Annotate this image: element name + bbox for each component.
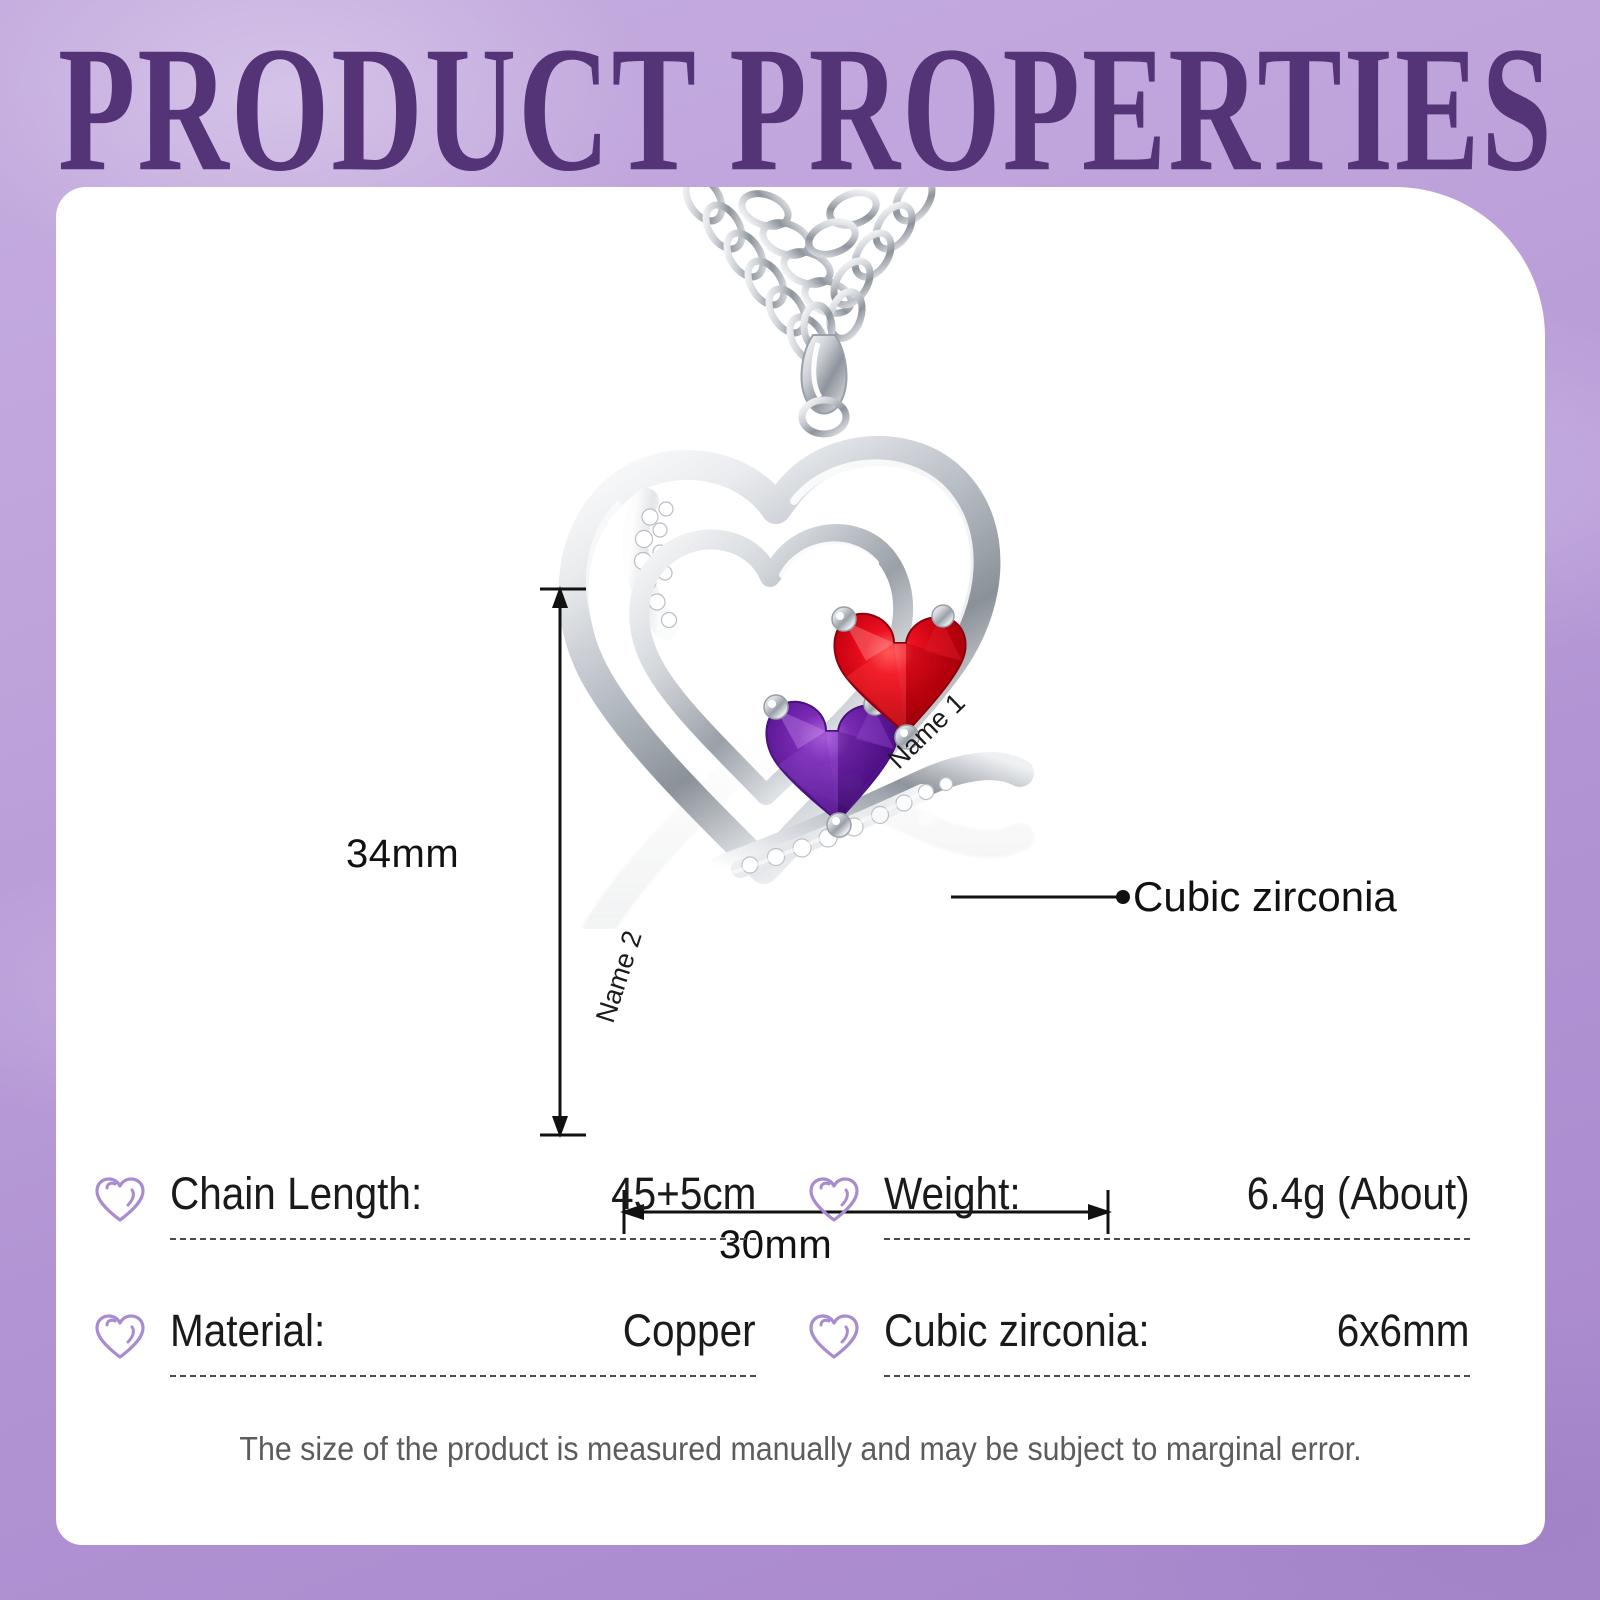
- spec-label: Cubic zirconia:: [884, 1305, 1150, 1357]
- spec-divider: [884, 1375, 1470, 1377]
- dimension-height: [526, 572, 606, 1152]
- spec-row-weight: Weight: 6.4g (About): [808, 1162, 1470, 1254]
- spec-grid: Chain Length: 45+5cm Weight: 6.4g (About…: [56, 1162, 1545, 1412]
- spec-label: Material:: [170, 1305, 325, 1357]
- cubic-zirconia-callout: Cubic zirconia: [951, 877, 1511, 937]
- spec-divider: [170, 1238, 756, 1240]
- heart-icon: [808, 1313, 860, 1361]
- content-card: Name 1 Name 2 34mm: [56, 187, 1545, 1545]
- spec-value: 6x6mm: [1337, 1305, 1470, 1357]
- spec-value: 45+5cm: [611, 1168, 756, 1220]
- spec-value: 6.4g (About): [1247, 1168, 1470, 1220]
- cubic-zirconia-callout-label: Cubic zirconia: [1133, 873, 1397, 921]
- spec-row-chain-length: Chain Length: 45+5cm: [94, 1162, 756, 1254]
- spec-value: Copper: [623, 1305, 756, 1357]
- heart-icon: [94, 1313, 146, 1361]
- heart-icon: [808, 1176, 860, 1224]
- spec-row-material: Material: Copper: [94, 1299, 756, 1391]
- spec-label: Chain Length:: [170, 1168, 422, 1220]
- spec-row-cubic-zirconia: Cubic zirconia: 6x6mm: [808, 1299, 1470, 1391]
- spec-divider: [170, 1375, 756, 1377]
- heart-icon: [94, 1176, 146, 1224]
- spec-label: Weight:: [884, 1168, 1021, 1220]
- dimension-height-label: 34mm: [346, 832, 459, 877]
- product-stage: Name 1 Name 2 34mm: [56, 187, 1545, 1087]
- page-title: PRODUCT PROPERTIES: [58, 36, 1306, 186]
- measurement-disclaimer: The size of the product is measured manu…: [116, 1430, 1486, 1468]
- spec-divider: [884, 1238, 1470, 1240]
